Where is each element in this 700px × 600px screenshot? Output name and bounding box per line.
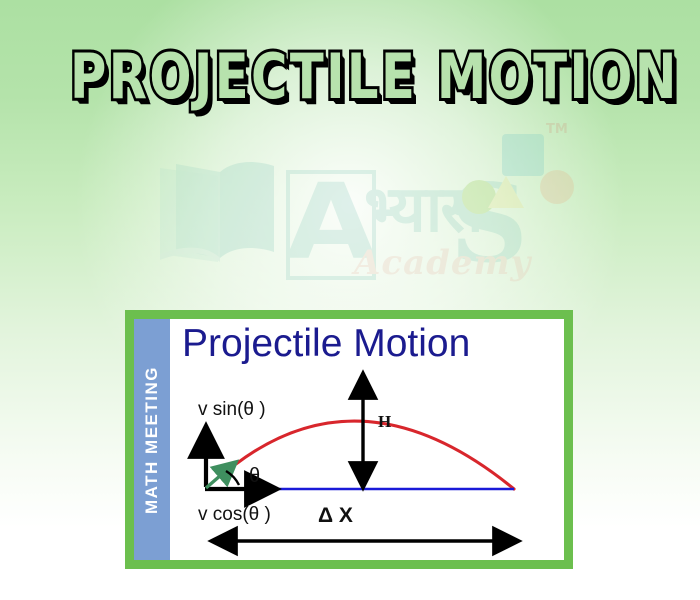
sidebar-label: MATH MEETING [142,365,162,513]
book-icon [156,158,286,268]
yellow-triangle-shape [488,176,524,208]
brand-devanagari: भ्यास [364,178,482,242]
label-height: H [378,412,391,431]
label-range: Δ X [318,504,353,527]
math-meeting-sidebar: MATH MEETING [134,319,170,560]
label-v-sin: v sin(θ ) [198,399,266,420]
brand-a-box: A [286,170,376,280]
theta-arc [226,471,239,485]
teal-square-shape [502,134,544,176]
poster-canvas: PROJECTILE MOTION A भ्यास S Academy TM M… [0,0,700,600]
label-theta: θ [249,465,260,487]
brand-subtitle: Academy [354,246,531,280]
brand-letter-a: A [285,170,377,274]
trajectory-curve [236,421,514,489]
green-circle-shape [462,180,496,214]
label-v-cos: v cos(θ ) [198,504,271,525]
diagram-card: MATH MEETING Projectile Motion [125,310,573,569]
orange-circle-shape [540,170,574,204]
projectile-figure: v sin(θ ) v cos(θ ) θ H Δ X [170,319,564,560]
diagram-card-inner: MATH MEETING Projectile Motion [134,319,564,560]
page-title: PROJECTILE MOTION [70,46,630,108]
watermark-logo: A भ्यास S Academy TM [150,128,570,293]
brand-letter-s: S [450,170,528,278]
projectile-diagram: Projectile Motion [170,319,564,560]
trademark-mark: TM [546,122,568,137]
